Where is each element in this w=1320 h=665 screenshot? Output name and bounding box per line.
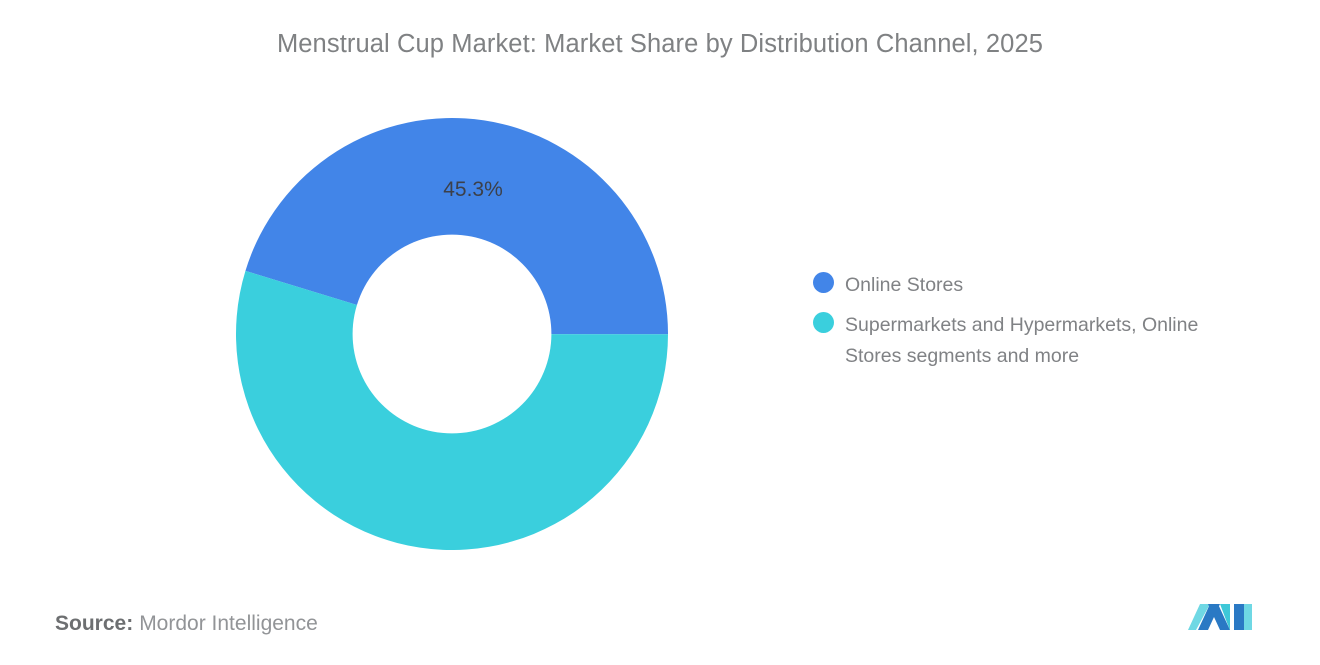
source-label: Source: [55, 612, 133, 635]
legend-item-label: Supermarkets and Hypermarkets, Online St… [845, 310, 1250, 372]
page-title: Menstrual Cup Market: Market Share by Di… [0, 30, 1320, 59]
donut-slice-label-online-stores: 45.3% [403, 178, 543, 202]
source-attribution: Source:Mordor Intelligence [55, 612, 318, 636]
chart-legend: Online Stores Supermarkets and Hypermark… [813, 270, 1263, 381]
legend-swatch-icon [813, 272, 834, 293]
legend-item-online-stores[interactable]: Online Stores [813, 270, 1263, 301]
donut-hole [353, 235, 552, 434]
legend-swatch-icon [813, 312, 834, 333]
legend-item-label: Online Stores [845, 270, 963, 301]
mordor-intelligence-logo-icon [1186, 598, 1256, 638]
legend-item-supermarkets-and-more[interactable]: Supermarkets and Hypermarkets, Online St… [813, 310, 1263, 372]
source-value: Mordor Intelligence [139, 612, 318, 635]
